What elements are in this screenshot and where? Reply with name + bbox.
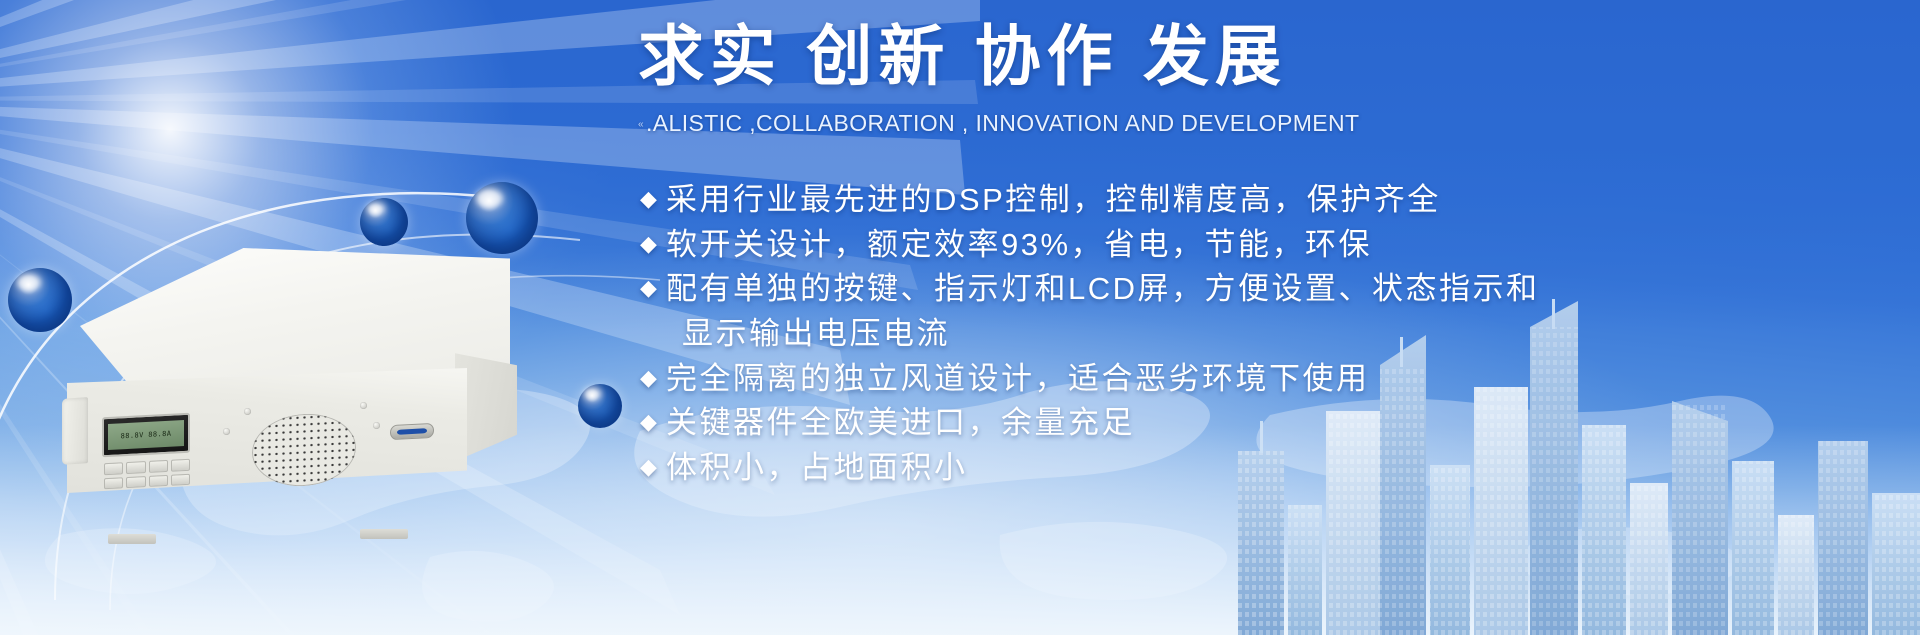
diamond-bullet-icon: ◆ [640, 223, 666, 265]
feature-bullet-list: ◆ 采用行业最先进的DSP控制，控制精度高，保护齐全 ◆ 软开关设计，额定效率9… [640, 178, 1910, 490]
subtitle: «.ALISTIC ,COLLABORATION , INNOVATION AN… [638, 110, 1359, 137]
diamond-bullet-icon: ◆ [640, 357, 666, 399]
diamond-bullet-icon: ◆ [640, 401, 666, 443]
subtitle-lead-mark: « [638, 119, 644, 130]
keypad-key[interactable] [171, 473, 190, 486]
list-item: ◆ 体积小，占地面积小 [640, 446, 1910, 491]
keypad-key[interactable] [126, 461, 145, 474]
keypad [104, 459, 190, 490]
headline: 求实 创新 协作 发展 [638, 22, 1287, 92]
list-item-label: 显示输出电压电流 [666, 312, 950, 357]
list-item-label: 关键器件全欧美进口，余量充足 [666, 401, 1135, 446]
lcd-inner: 88.8V 88.8A [108, 420, 184, 450]
globe-bubble-2 [360, 198, 408, 246]
panel-screw [373, 422, 380, 429]
keypad-key[interactable] [149, 474, 168, 487]
list-item-label: 软开关设计，额定效率93%，省电，节能，环保 [666, 223, 1372, 268]
list-item-continuation: 显示输出电压电流 [640, 312, 1910, 357]
chassis-handle [62, 397, 88, 465]
lcd-readout: 88.8V 88.8A [121, 430, 172, 441]
panel-screw [244, 408, 251, 415]
chassis-foot [360, 529, 408, 539]
list-item-label: 完全隔离的独立风道设计，适合恶劣环境下使用 [666, 357, 1370, 402]
promo-banner: 88.8V 88.8A [0, 0, 1920, 635]
diamond-bullet-icon: ◆ [640, 267, 666, 309]
keypad-key[interactable] [171, 459, 190, 472]
list-item: ◆ 关键器件全欧美进口，余量充足 [640, 401, 1910, 446]
lcd-screen: 88.8V 88.8A [102, 413, 190, 458]
db9-serial-port [390, 423, 434, 440]
product-image: 88.8V 88.8A [60, 248, 530, 538]
subtitle-text: .ALISTIC ,COLLABORATION , INNOVATION AND… [646, 110, 1359, 136]
keypad-key[interactable] [104, 477, 123, 490]
keypad-key[interactable] [126, 476, 145, 489]
globe-bubble-3 [466, 182, 538, 254]
list-item-label: 体积小，占地面积小 [666, 446, 968, 491]
globe-bubble-4 [578, 384, 622, 428]
list-item: ◆ 完全隔离的独立风道设计，适合恶劣环境下使用 [640, 357, 1910, 402]
chassis-foot [108, 534, 156, 544]
diamond-bullet-icon: ◆ [640, 178, 666, 220]
diamond-bullet-icon: ◆ [640, 446, 666, 488]
list-item: ◆ 配有单独的按键、指示灯和LCD屏，方便设置、状态指示和 [640, 267, 1910, 312]
keypad-key[interactable] [104, 462, 123, 475]
list-item: ◆ 采用行业最先进的DSP控制，控制精度高，保护齐全 [640, 178, 1910, 223]
keypad-key[interactable] [149, 460, 168, 473]
list-item-label: 配有单独的按键、指示灯和LCD屏，方便设置、状态指示和 [666, 267, 1540, 312]
list-item: ◆ 软开关设计，额定效率93%，省电，节能，环保 [640, 223, 1910, 268]
list-item-label: 采用行业最先进的DSP控制，控制精度高，保护齐全 [666, 178, 1441, 223]
panel-screw [360, 402, 367, 409]
panel-screw [223, 428, 230, 435]
